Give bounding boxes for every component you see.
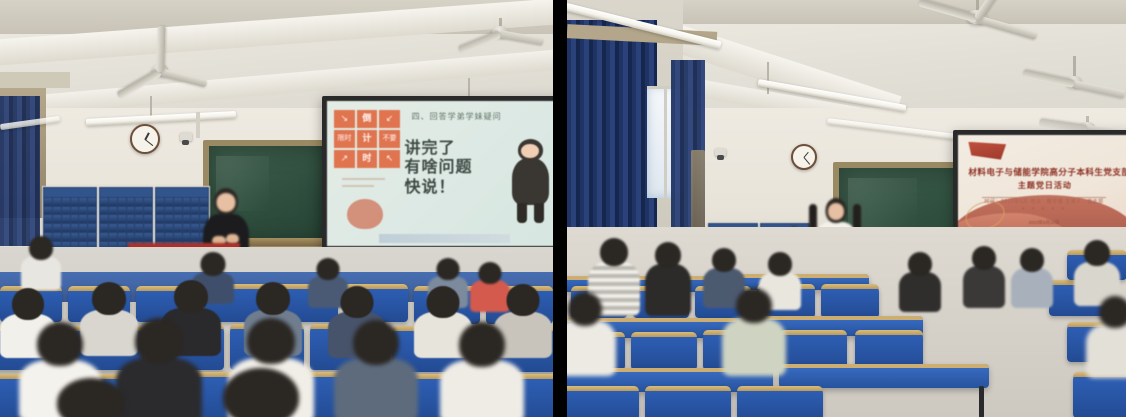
right-window-curtain-1 (567, 20, 657, 230)
right-chair (821, 284, 879, 318)
right-chair (645, 386, 731, 417)
left-photo: ↘ 倒 ↙ 限时 计 不要 ↗ 时 ↖ 四、回答学弟学妹疑问 讲完了 有啥问题 (0, 0, 553, 417)
right-ceiling-fan-2 (1019, 56, 1126, 106)
countdown-tile-1: 倒 (357, 110, 378, 128)
left-audience-member (346, 320, 406, 408)
right-audience-member (1079, 240, 1115, 298)
right-chair (737, 386, 823, 417)
left-window-header (0, 72, 70, 88)
pocket-panel (99, 187, 153, 251)
countdown-tile-0: ↘ (334, 110, 355, 128)
right-ceiling-fan-1 (917, 0, 1037, 50)
right-audience-member (649, 242, 687, 306)
right-audience-member (967, 246, 1001, 300)
right-chair (567, 386, 639, 417)
right-audience-member (903, 252, 937, 304)
right-audience-member (729, 288, 779, 362)
left-ceiling-fan-2 (455, 18, 545, 74)
left-audience-member (24, 236, 58, 282)
left-slide-note-illustration (339, 176, 400, 231)
right-slide-title-main: 材料电子与储能学院高分子本科生党支部 (968, 166, 1121, 178)
right-audience-member (567, 292, 609, 364)
left-audience-member (86, 282, 132, 344)
left-slide: ↘ 倒 ↙ 限时 计 不要 ↗ 时 ↖ 四、回答学弟学妹疑问 讲完了 有啥问题 (327, 101, 553, 246)
right-slide-meta: 时间：2023年5月 地点：教学楼 主讲人：党支部 (975, 198, 1113, 205)
left-slide-section-title: 四、回答学弟学妹疑问 (412, 111, 502, 122)
right-slide-title-sub: 主题党日活动 (968, 180, 1121, 191)
left-slide-headline-line-1: 讲完了 (405, 139, 473, 159)
right-audience-member (1093, 296, 1126, 366)
left-slide-headline-line-3: 快说！ (405, 178, 473, 198)
left-security-camera (180, 132, 192, 141)
left-audience-member (128, 318, 190, 408)
right-door-frame (691, 150, 705, 234)
left-slide-footer-bar (379, 234, 511, 243)
right-window-frame-mullion (664, 86, 667, 198)
right-audience-member (1015, 248, 1049, 300)
left-audience-member (56, 378, 126, 417)
right-slide-flag-graphic (968, 142, 1006, 160)
right-security-camera (715, 148, 726, 156)
left-camera-conduit (196, 112, 200, 138)
right-slide-date: 2023年5月18日 (958, 220, 1126, 226)
left-wall-clock (130, 124, 160, 154)
right-desk-leg (979, 386, 984, 417)
right-photo: 材料电子与储能学院高分子本科生党支部 主题党日活动 时间：2023年5月 地点：… (567, 0, 1126, 417)
countdown-tile-8: ↖ (379, 150, 400, 168)
left-ceiling-fan-1 (115, 34, 205, 94)
left-projection-screen: ↘ 倒 ↙ 限时 计 不要 ↗ 时 ↖ 四、回答学弟学妹疑问 讲完了 有啥问题 (322, 96, 553, 251)
right-wall-clock (791, 144, 817, 170)
countdown-tile-3: 限时 (334, 130, 355, 148)
countdown-tile-5: 不要 (379, 130, 400, 148)
photo-divider (553, 0, 567, 417)
right-chair (1073, 372, 1126, 417)
right-slide-stars: ★ ★ ★ ★ ★ (958, 206, 1126, 212)
right-chair (631, 332, 697, 370)
countdown-tile-4: 计 (357, 130, 378, 148)
countdown-tile-6: ↗ (334, 150, 355, 168)
countdown-tile-7: 时 (357, 150, 378, 168)
left-slide-countdown-grid: ↘ 倒 ↙ 限时 计 不要 ↗ 时 ↖ (334, 110, 400, 168)
left-audience-member (222, 368, 300, 417)
countdown-tile-2: ↙ (379, 110, 400, 128)
photo-pair-canvas: ↘ 倒 ↙ 限时 计 不要 ↗ 时 ↖ 四、回答学弟学妹疑问 讲完了 有啥问题 (0, 0, 1126, 417)
left-audience-member (452, 322, 512, 410)
right-desk (779, 364, 989, 388)
left-slide-headline-line-2: 有啥问题 (405, 158, 473, 178)
left-slide-cartoon-figure (508, 139, 553, 223)
right-tube-rod-1 (767, 62, 769, 94)
left-slide-headline: 讲完了 有啥问题 快说！ (405, 139, 473, 198)
